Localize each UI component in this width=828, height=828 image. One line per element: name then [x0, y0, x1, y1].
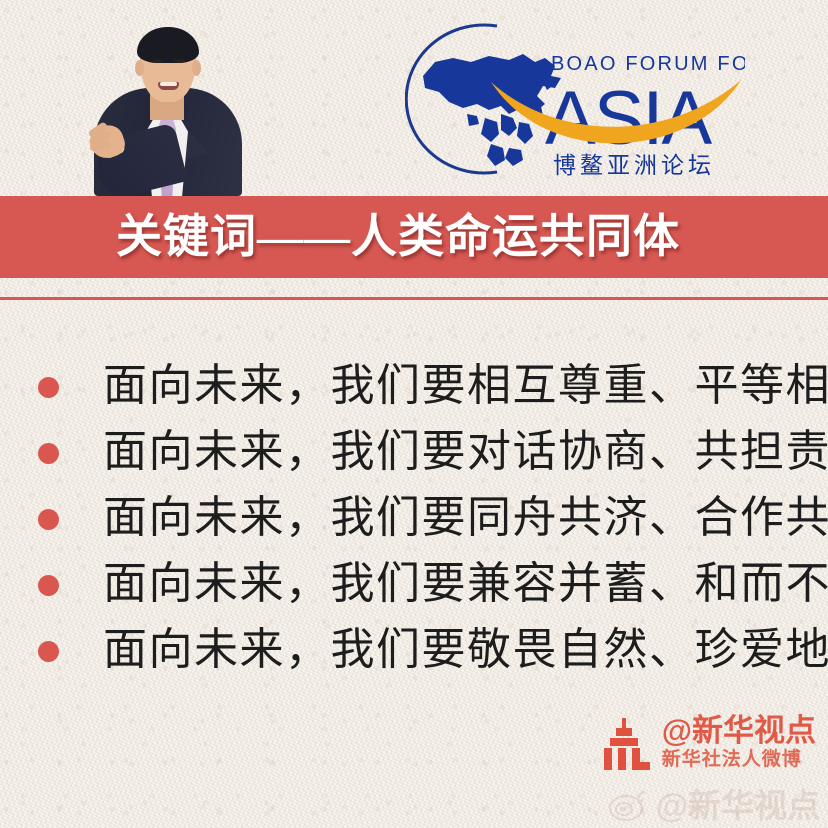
- keyword-banner: 关键词——人类命运共同体: [0, 196, 828, 278]
- list-item-label: 面向未来，我们要相互尊重、平等相待: [103, 364, 828, 408]
- list-item: 面向未来，我们要敬畏自然、珍爱地球: [0, 617, 828, 683]
- boao-forum-for-asia-logo: BOAO FORUM FOR ASIA 博鳌亚洲论坛: [405, 18, 745, 180]
- poster-canvas: BOAO FORUM FOR ASIA 博鳌亚洲论坛 关键词——人类命运共同体 …: [0, 0, 828, 828]
- bullet-dot-icon: [38, 509, 59, 530]
- bullet-dot-icon: [38, 641, 59, 662]
- svg-text:博鳌亚洲论坛: 博鳌亚洲论坛: [553, 152, 715, 178]
- bullet-dot-icon: [38, 377, 59, 398]
- bullet-dot-icon: [38, 575, 59, 596]
- bullet-dot-icon: [38, 443, 59, 464]
- banner-divider-rule: [0, 297, 828, 300]
- list-item-label: 面向未来，我们要同舟共济、合作共赢: [103, 496, 828, 540]
- xinhua-branding: @新华视点 新华社法人微博: [598, 715, 816, 772]
- list-item-label: 面向未来，我们要兼容并蓄、和而不同: [103, 562, 828, 606]
- svg-text:BOAO FORUM FOR: BOAO FORUM FOR: [551, 53, 745, 75]
- list-item: 面向未来，我们要兼容并蓄、和而不同: [0, 551, 828, 617]
- keyword-bullet-list: 面向未来，我们要相互尊重、平等相待 面向未来，我们要对话协商、共担责任 面向未来…: [0, 353, 828, 683]
- brand-subtitle: 新华社法人微博: [662, 749, 802, 772]
- list-item-label: 面向未来，我们要对话协商、共担责任: [103, 430, 828, 474]
- list-item: 面向未来，我们要对话协商、共担责任: [0, 419, 828, 485]
- weibo-watermark-text: @新华视点: [656, 789, 820, 822]
- xinhua-yang-mark-icon: [598, 716, 656, 772]
- list-item: 面向未来，我们要同舟共济、合作共赢: [0, 485, 828, 551]
- brand-handle: @新华视点: [662, 715, 816, 748]
- weibo-eye-icon: [608, 788, 650, 822]
- xi-jinping-portrait: [88, 2, 248, 196]
- list-item: 面向未来，我们要相互尊重、平等相待: [0, 353, 828, 419]
- weibo-watermark: @新华视点: [608, 788, 820, 822]
- header-band: BOAO FORUM FOR ASIA 博鳌亚洲论坛: [0, 0, 828, 196]
- list-item-label: 面向未来，我们要敬畏自然、珍爱地球: [103, 628, 828, 672]
- page-title: 关键词——人类命运共同体: [116, 214, 680, 260]
